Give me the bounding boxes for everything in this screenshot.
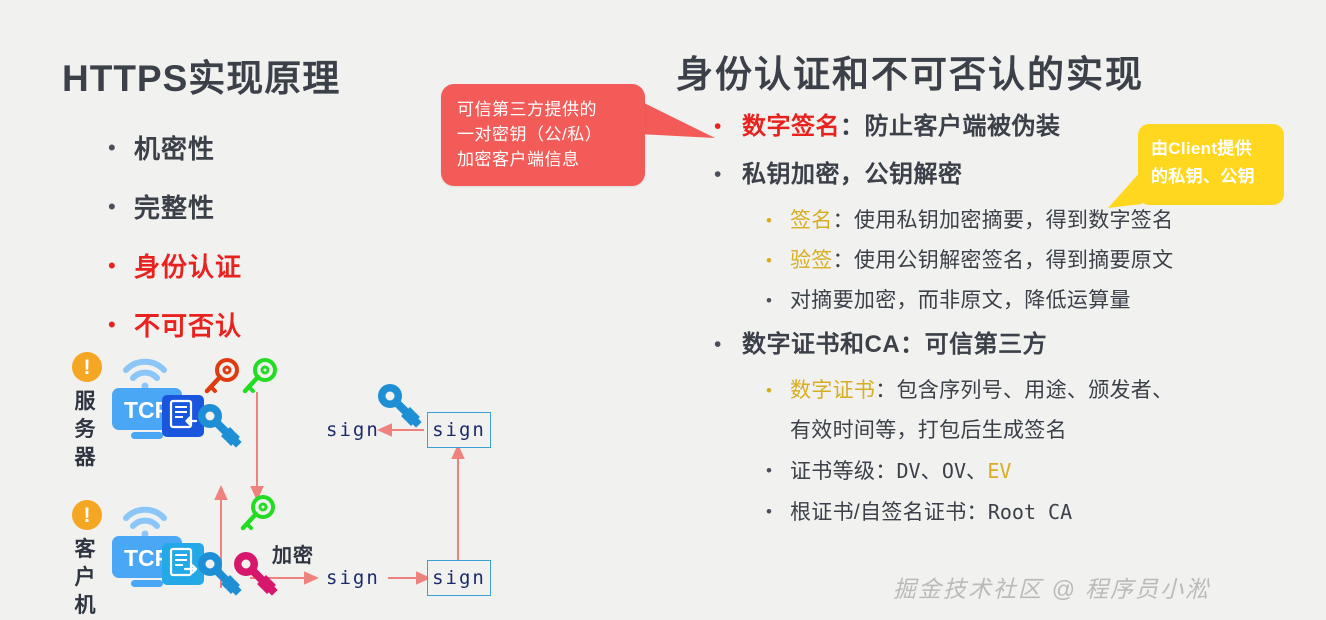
left-bullet-item: • 机密性 <box>108 118 438 177</box>
level-dv: DV <box>897 459 921 483</box>
rest-text: 证书等级： <box>790 460 897 483</box>
right-subitem-label: 根证书/自签名证书：Root CA <box>790 493 1072 532</box>
right-subitem-verify: • 验签：使用公钥解密签名，得到摘要原文 <box>766 242 1314 280</box>
right-subitem-digest: • 对摘要加密，而非原文，降低运算量 <box>766 282 1314 320</box>
bullet-marker: • <box>766 282 790 320</box>
right-subitem-sign: • 签名：使用私钥加密摘要，得到数字签名 <box>766 202 1314 240</box>
left-panel-title: HTTPS实现原理 <box>62 48 340 102</box>
bullet-marker: • <box>766 452 790 490</box>
server-label-char: 服 <box>72 388 98 416</box>
sign-verify-key-icon <box>376 382 424 430</box>
bullet-marker: • <box>108 137 134 159</box>
level-ev: EV <box>987 459 1011 483</box>
right-subitem-label: 验签：使用公钥解密签名，得到摘要原文 <box>790 242 1173 280</box>
bullet-marker: • <box>108 196 134 218</box>
highlight-text: 数字签名 <box>742 113 840 140</box>
level-ov: OV <box>942 459 966 483</box>
watermark: 掘金技术社区 @ 程序员小淞 <box>893 570 1210 604</box>
bullet-marker: • <box>108 255 134 277</box>
sign-box-bottom: sign <box>427 560 491 596</box>
left-bullet-item: • 完整性 <box>108 177 438 236</box>
left-bullet-item: • 身份认证 <box>108 236 438 295</box>
right-item-certificate-ca: • 数字证书和CA：可信第三方 <box>714 324 1314 366</box>
bullet-marker: • <box>766 372 790 410</box>
right-subitem-certificate-levels: • 证书等级：DV、OV、EV <box>766 452 1314 491</box>
client-label-char: 机 <box>72 592 98 620</box>
bullet-marker: • <box>766 202 790 240</box>
highlight-text: 验签 <box>790 249 833 272</box>
encrypt-label: 加密 <box>272 539 314 568</box>
right-subitem-certificate-content: • 数字证书：包含序列号、用途、颁发者、 <box>766 372 1314 410</box>
red-callout-text: 可信第三方提供的 一对密钥（公/私） 加密客户端信息 <box>457 97 635 172</box>
right-item-label: 数字证书和CA：可信第三方 <box>742 324 1047 366</box>
highlight-text: 签名 <box>790 209 833 232</box>
slide-root: HTTPS实现原理 • 机密性 • 完整性 • 身份认证 • 不可否认 可信第三… <box>0 0 1326 618</box>
rest-text: ：防止客户端被伪装 <box>840 113 1061 140</box>
left-bullet-list: • 机密性 • 完整性 • 身份认证 • 不可否认 <box>108 118 438 354</box>
right-subitem-label: 有效时间等，打包后生成签名 <box>790 412 1067 450</box>
bullet-marker: • <box>714 154 742 196</box>
server-public-key-icon <box>240 358 280 400</box>
client-label-char: 户 <box>72 564 98 592</box>
client-label-char: 客 <box>72 536 98 564</box>
red-callout-box: 可信第三方提供的 一对密钥（公/私） 加密客户端信息 <box>441 84 645 186</box>
client-public-key-icon <box>238 495 278 537</box>
server-label: 服 务 器 <box>72 388 98 472</box>
https-flow-diagram: ! 服 务 器 TCP <box>0 330 560 618</box>
yellow-callout-line: 由Client提供 <box>1151 135 1276 163</box>
bullet-marker: • <box>714 324 742 366</box>
right-subitem-label: 数字证书：包含序列号、用途、颁发者、 <box>790 372 1173 410</box>
bullet-marker: • <box>766 493 790 531</box>
left-bullet-label: 身份认证 <box>134 247 242 284</box>
server-label-char: 务 <box>72 416 98 444</box>
right-subitem-certificate-content-cont: 有效时间等，打包后生成签名 <box>766 412 1314 450</box>
sign-text-bottom: sign <box>326 567 380 589</box>
left-bullet-label: 机密性 <box>134 129 215 166</box>
red-callout-line: 加密客户端信息 <box>457 147 635 172</box>
server-label-char: 器 <box>72 444 98 472</box>
yellow-callout-text: 由Client提供 的私钥、公钥 <box>1151 135 1276 191</box>
server-session-key-icon <box>196 402 244 450</box>
sign-text-top: sign <box>326 419 380 441</box>
server-private-key-icon <box>202 358 242 400</box>
highlight-text: 数字证书 <box>790 379 875 402</box>
yellow-callout-box: 由Client提供 的私钥、公钥 <box>1138 124 1284 205</box>
sign-box-top: sign <box>427 412 491 448</box>
rest-text: ：包含序列号、用途、颁发者、 <box>875 379 1173 402</box>
bullet-marker: • <box>766 242 790 280</box>
red-callout-line: 可信第三方提供的 <box>457 97 635 122</box>
right-subitem-root-ca: • 根证书/自签名证书：Root CA <box>766 493 1314 532</box>
yellow-callout-line: 的私钥、公钥 <box>1151 163 1276 191</box>
bullet-marker: • <box>714 106 742 148</box>
right-subitem-label: 对摘要加密，而非原文，降低运算量 <box>790 282 1131 320</box>
right-item-label: 私钥加密，公钥解密 <box>742 154 963 196</box>
rest-text: 根证书/自签名证书： <box>790 501 988 524</box>
right-panel-title: 身份认证和不可否认的实现 <box>676 44 1144 98</box>
client-label: 客 户 机 <box>72 536 98 620</box>
right-subitem-label: 证书等级：DV、OV、EV <box>790 452 1011 491</box>
rest-text: ：使用公钥解密签名，得到摘要原文 <box>833 249 1174 272</box>
root-ca-text: Root CA <box>988 500 1072 524</box>
left-bullet-label: 完整性 <box>134 188 215 225</box>
right-item-label: 数字签名：防止客户端被伪装 <box>742 106 1061 148</box>
red-callout-line: 一对密钥（公/私） <box>457 122 635 147</box>
